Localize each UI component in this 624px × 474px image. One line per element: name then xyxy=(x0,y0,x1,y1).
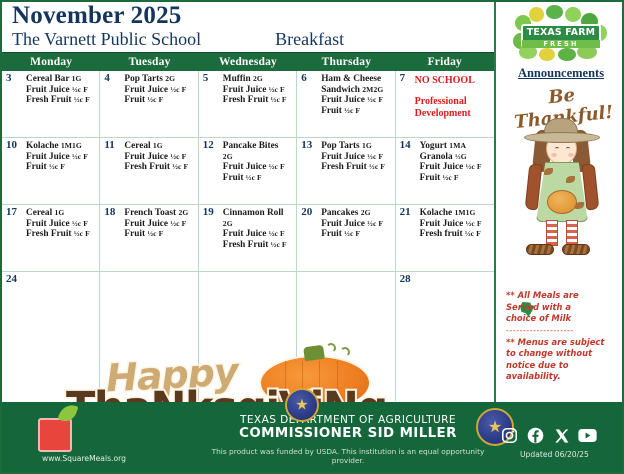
cheek-icon xyxy=(551,153,557,157)
menu-item-qty: ½c F xyxy=(466,219,482,228)
menu-item: Fruit Juice ½c F xyxy=(124,85,195,96)
menu-item: Fruit ½c F xyxy=(26,162,97,173)
menu-item-name: Pop Tarts xyxy=(124,74,163,84)
day-number: 10 xyxy=(6,139,17,151)
square-meals-url[interactable]: www.SquareMeals.org xyxy=(42,454,126,463)
subtitle-row: The Varnett Public School Breakfast xyxy=(12,29,484,50)
menu-item: Cereal Bar 1G xyxy=(26,74,97,85)
menu-item-qty: ½c F xyxy=(369,162,385,171)
menu-item: 2G xyxy=(223,219,294,230)
menu-item-name: Fruit Juice xyxy=(321,95,365,105)
menu-item-qty: ½c F xyxy=(269,162,285,171)
menu-item: Fruit ½c F xyxy=(124,229,195,240)
day-number: 14 xyxy=(400,139,411,151)
menu-item-name: Fruit xyxy=(321,229,342,239)
menu-item-name: Fresh Fruit xyxy=(26,229,72,239)
dress-pumpkin-icon xyxy=(547,190,577,214)
menu-item-name: Muffin xyxy=(223,74,251,84)
menu-item-qty: ½c F xyxy=(172,162,188,171)
menu-item-name: Fruit Juice xyxy=(223,85,267,95)
menu-item-qty: ½G xyxy=(455,152,467,161)
day-number: 28 xyxy=(400,273,411,285)
meal-type-label: Breakfast xyxy=(275,29,344,50)
note-line: ** All Meals are xyxy=(506,290,618,302)
menu-item-name: Fruit xyxy=(420,173,441,183)
week-row: 3Cereal Bar 1GFruit Juice ½c FFresh Frui… xyxy=(2,71,494,138)
day-number: 17 xyxy=(6,206,17,218)
vegetable-icon xyxy=(546,5,563,19)
day-number: 20 xyxy=(301,206,312,218)
note-line: notice due to xyxy=(506,360,618,372)
vegetable-icon xyxy=(558,48,576,61)
menu-item: Fruit Juice ½c F xyxy=(223,229,294,240)
week-row: 10Kolache 1M1GFruit Juice ½c FFruit ½c F… xyxy=(2,138,494,205)
note-line: choice of Milk xyxy=(506,313,618,325)
cheek-icon xyxy=(568,153,574,157)
menu-item: Granola ½G xyxy=(420,152,492,163)
menu-item-list: Cereal 1GFruit Juice ½c FFresh Fruit ½c … xyxy=(124,141,195,173)
shoe-icon xyxy=(562,244,590,255)
menu-item-list: Kolache 1M1GFruit Juice ½c FFresh fruit … xyxy=(420,208,492,240)
page-title: November 2025 xyxy=(12,3,484,29)
x-icon[interactable] xyxy=(552,426,571,445)
menu-item: Pop Tarts 2G xyxy=(124,74,195,85)
menu-item: Fruit Juice ½c F xyxy=(420,219,492,230)
note-line: availability. xyxy=(506,371,618,383)
menu-item: 2G xyxy=(223,152,294,163)
no-school-line: Professional xyxy=(415,96,492,108)
day-number: 24 xyxy=(6,273,17,285)
menu-item-name: Yogurt xyxy=(420,141,447,151)
menu-item: Fruit Juice ½c F xyxy=(321,95,392,106)
menu-item-name: Fresh fruit xyxy=(420,229,463,239)
menu-item-list: Pancake Bites 2GFruit Juice ½c FFruit ½c… xyxy=(223,141,294,183)
menu-item-qty: ½c F xyxy=(72,152,88,161)
menu-item-list: Kolache 1M1GFruit Juice ½c FFruit ½c F xyxy=(26,141,97,173)
weekday-tuesday: Tuesday xyxy=(100,53,198,72)
menu-item-name: Fruit Juice xyxy=(124,85,168,95)
updated-date: Updated 06/20/25 xyxy=(520,450,589,459)
day-number: 21 xyxy=(400,206,411,218)
menu-item-name: Fruit Juice xyxy=(223,229,267,239)
day-cell: 18French Toast 2GFruit Juice ½c FFruit ½… xyxy=(100,205,198,271)
menu-item: Yogurt 1MA xyxy=(420,141,492,152)
texas-farm-fresh-banner: TEXAS FARM FRESH xyxy=(521,24,601,48)
menu-item-name: Fruit xyxy=(124,95,145,105)
menu-item-qty: ½c F xyxy=(72,219,88,228)
menu-item-qty: ½c F xyxy=(147,95,163,104)
menu-item: Cereal 1G xyxy=(124,141,195,152)
no-school-line: NO SCHOOL xyxy=(415,75,492,87)
week-row: 17Cereal 1GFruit Juice ½c FFresh Fruit ½… xyxy=(2,205,494,272)
straw-hat-brim-icon xyxy=(524,132,600,143)
menu-item-name: Fruit Juice xyxy=(321,152,365,162)
square-meals-apple-icon xyxy=(38,418,72,452)
calendar-weeks: 3Cereal Bar 1GFruit Juice ½c FFresh Frui… xyxy=(2,71,494,402)
no-school-line: Development xyxy=(415,108,492,120)
menu-item: Fresh Fruit ½c F xyxy=(223,95,294,106)
menu-item: Fresh Fruit ½c F xyxy=(26,95,97,106)
menu-item: Pancakes 2G xyxy=(321,208,392,219)
vegetable-icon xyxy=(529,7,544,22)
menu-item-qty: ½c F xyxy=(74,229,90,238)
day-cell xyxy=(100,272,198,401)
day-number: 11 xyxy=(104,139,114,151)
menu-item: Fruit ½c F xyxy=(420,173,492,184)
day-cell xyxy=(199,272,297,401)
facebook-icon[interactable] xyxy=(526,426,545,445)
day-cell: 19Cinnamon Roll 2GFruit Juice ½c FFresh … xyxy=(199,205,297,271)
day-cell: 12Pancake Bites 2GFruit Juice ½c FFruit … xyxy=(199,138,297,204)
menu-item: French Toast 2G xyxy=(124,208,195,219)
menu-item: Cinnamon Roll xyxy=(223,208,294,219)
texas-farm-fresh-logo: TEXAS FARM FRESH xyxy=(513,7,609,63)
menu-item: Pop Tarts 1G xyxy=(321,141,392,152)
day-number: 18 xyxy=(104,206,115,218)
menu-item-list: Pancakes 2GFruit Juice ½c FFruit ½c F xyxy=(321,208,392,240)
menu-item: Fruit Juice ½c F xyxy=(223,85,294,96)
day-cell: 14Yogurt 1MAGranola ½GFruit Juice ½c FFr… xyxy=(396,138,494,204)
menu-item: Fruit Juice ½c F xyxy=(26,219,97,230)
menu-item-name: Fruit xyxy=(124,229,145,239)
menu-item-qty: ½c F xyxy=(246,173,262,182)
weekday-wednesday: Wednesday xyxy=(199,53,297,72)
menu-item-name: Pancake Bites xyxy=(223,141,279,151)
menu-item-name: Fruit Juice xyxy=(420,219,464,229)
menu-item-qty: 2G xyxy=(361,208,371,217)
menu-item-qty: ½c F xyxy=(367,95,383,104)
menu-item-name: Ham & Cheese xyxy=(321,74,381,84)
menu-item-qty: ½c F xyxy=(344,106,360,115)
day-cell: 13Pop Tarts 1GFruit Juice ½c FFresh Frui… xyxy=(297,138,395,204)
menu-item-qty: ½c F xyxy=(170,219,186,228)
menu-item-qty: ½c F xyxy=(271,240,287,249)
menu-item-name: Fruit Juice xyxy=(26,219,70,229)
note-line: ** Menus are subject xyxy=(506,337,618,349)
note-separator: -------------------- xyxy=(506,326,618,336)
menu-item-list: Yogurt 1MAGranola ½GFruit Juice ½c FFrui… xyxy=(420,141,492,183)
menu-item-name: Fruit Juice xyxy=(420,162,464,172)
menu-item-qty: 1M1G xyxy=(61,141,82,150)
day-number: 19 xyxy=(203,206,214,218)
weekday-friday: Friday xyxy=(396,53,494,72)
menu-item-list: Muffin 2GFruit Juice ½c FFresh Fruit ½c … xyxy=(223,74,294,106)
scarecrow-girl-illustration xyxy=(520,106,604,272)
menu-item-qty: 2G xyxy=(223,152,233,161)
menu-item: Fresh fruit ½c F xyxy=(420,229,492,240)
eye-icon xyxy=(566,147,570,151)
menu-item-name: Fresh Fruit xyxy=(321,162,367,172)
announcements-title: Announcements xyxy=(502,66,620,81)
menu-item: Pancake Bites xyxy=(223,141,294,152)
day-cell: 10Kolache 1M1GFruit Juice ½c FFruit ½c F xyxy=(2,138,100,204)
menu-item: Sandwich 2M2G xyxy=(321,85,392,96)
no-school-notice: NO SCHOOLProfessionalDevelopment xyxy=(415,75,492,120)
menu-item-qty: ½c F xyxy=(74,95,90,104)
menu-item-qty: 1G xyxy=(72,74,82,83)
menu-item-qty: 2G xyxy=(253,74,263,83)
menu-item: Fruit Juice ½c F xyxy=(26,85,97,96)
day-number: 7 xyxy=(400,72,406,84)
day-number: 5 xyxy=(203,72,209,84)
menu-item: Fruit Juice ½c F xyxy=(420,162,492,173)
menu-item-list: Ham & CheeseSandwich 2M2GFruit Juice ½c … xyxy=(321,74,392,116)
day-cell: 5Muffin 2GFruit Juice ½c FFresh Fruit ½c… xyxy=(199,71,297,137)
youtube-icon[interactable] xyxy=(578,426,597,445)
menu-item-name: Sandwich xyxy=(321,85,360,95)
day-cell: 7NO SCHOOLProfessionalDevelopment xyxy=(396,71,494,137)
school-name: The Varnett Public School xyxy=(12,29,201,50)
menu-item-name: Fruit Juice xyxy=(26,85,70,95)
menu-item: Fruit ½c F xyxy=(223,173,294,184)
day-number: 12 xyxy=(203,139,214,151)
menu-item-qty: ½c F xyxy=(344,229,360,238)
menu-item-name: Fruit xyxy=(26,162,47,172)
menu-item-name: Fresh Fruit xyxy=(223,240,269,250)
menu-item-qty: ½c F xyxy=(170,152,186,161)
menu-item-name: Cinnamon Roll xyxy=(223,208,284,218)
menu-item-list: French Toast 2GFruit Juice ½c FFruit ½c … xyxy=(124,208,195,240)
social-links xyxy=(500,426,597,445)
day-cell: 21Kolache 1M1GFruit Juice ½c FFresh frui… xyxy=(396,205,494,271)
menu-item-name: Pancakes xyxy=(321,208,358,218)
star-glyph: ★ xyxy=(295,396,308,415)
logo-name-text: TEXAS FARM xyxy=(527,27,595,38)
day-cell: 17Cereal 1GFruit Juice ½c FFresh Fruit ½… xyxy=(2,205,100,271)
weekday-header-row: Monday Tuesday Wednesday Thursday Friday xyxy=(2,52,494,71)
menu-item: Fruit Juice ½c F xyxy=(124,152,195,163)
menu-item-qty: 1G xyxy=(362,141,372,150)
menu-item-qty: 2G xyxy=(165,74,175,83)
menu-item-qty: ½c F xyxy=(367,152,383,161)
leg-icon xyxy=(566,220,578,246)
menu-item-name: Cereal xyxy=(124,141,150,151)
menu-item-qty: 1G xyxy=(153,141,163,150)
menu-item: Fruit Juice ½c F xyxy=(124,219,195,230)
day-cell: 4Pop Tarts 2GFruit Juice ½c FFruit ½c F xyxy=(100,71,198,137)
shoe-icon xyxy=(526,244,554,255)
announcements-sidebar: TEXAS FARM FRESH Announcements Be Thankf… xyxy=(498,2,624,402)
menu-item-qty: ½c F xyxy=(170,85,186,94)
weekday-thursday: Thursday xyxy=(297,53,395,72)
menu-item: Cereal 1G xyxy=(26,208,97,219)
instagram-icon[interactable] xyxy=(500,426,519,445)
sidebar-notes: ** All Meals are Served with a choice of… xyxy=(506,290,618,383)
day-number: 13 xyxy=(301,139,312,151)
menu-item: Fruit ½c F xyxy=(321,229,392,240)
menu-item-qty: ½c F xyxy=(269,85,285,94)
menu-item: Fruit Juice ½c F xyxy=(321,152,392,163)
texas-agriculture-seal-icon: ★ xyxy=(285,388,319,422)
menu-item-qty: ½c F xyxy=(443,173,459,182)
menu-item: Fruit Juice ½c F xyxy=(321,219,392,230)
menu-item-name: Cereal Bar xyxy=(26,74,69,84)
day-number: 3 xyxy=(6,72,12,84)
menu-item-qty: ½c F xyxy=(72,85,88,94)
weekday-monday: Monday xyxy=(2,53,100,72)
menu-item-qty: 2M2G xyxy=(362,85,383,94)
menu-item-name: Fruit Juice xyxy=(26,152,70,162)
menu-item-name: French Toast xyxy=(124,208,176,218)
menu-item-name: Fruit xyxy=(223,173,244,183)
menu-item-name: Pop Tarts xyxy=(321,141,360,151)
menu-item: Muffin 2G xyxy=(223,74,294,85)
menu-item-qty: 2G xyxy=(178,208,188,217)
leg-icon xyxy=(546,220,558,246)
day-cell: 24 xyxy=(2,272,100,401)
menu-item-name: Fresh Fruit xyxy=(223,95,269,105)
menu-item-qty: ½c F xyxy=(147,229,163,238)
logo-sub-text: FRESH xyxy=(522,40,600,48)
menu-item-name: Cereal xyxy=(26,208,52,218)
vegetable-icon xyxy=(565,7,581,22)
menu-item: Ham & Cheese xyxy=(321,74,392,85)
week-row: 2428 xyxy=(2,272,494,401)
menu-item-qty: ½c F xyxy=(269,229,285,238)
menu-item-qty: ½c F xyxy=(271,95,287,104)
menu-item: Fresh Fruit ½c F xyxy=(124,162,195,173)
menu-item: Fruit ½c F xyxy=(124,95,195,106)
menu-item-name: Kolache xyxy=(420,208,453,218)
agency-block: ★ TEXAS DEPARTMENT OF AGRICULTURE COMMIS… xyxy=(198,414,498,465)
menu-item: Kolache 1M1G xyxy=(26,141,97,152)
menu-item-list: Pop Tarts 2GFruit Juice ½c FFruit ½c F xyxy=(124,74,195,106)
day-number: 6 xyxy=(301,72,307,84)
calendar-title-bar: November 2025 The Varnett Public School … xyxy=(2,2,494,52)
menu-item-list: Pop Tarts 1GFruit Juice ½c FFresh Fruit … xyxy=(321,141,392,173)
menu-item: Fruit Juice ½c F xyxy=(26,152,97,163)
vegetable-icon xyxy=(539,48,555,61)
day-cell: 28 xyxy=(396,272,494,401)
note-line: Served with a xyxy=(506,302,618,314)
menu-item: Fruit ½c F xyxy=(321,106,392,117)
menu-item-name: Fruit Juice xyxy=(321,219,365,229)
note-line: to change without xyxy=(506,348,618,360)
menu-item-qty: 1G xyxy=(55,208,65,217)
menu-item-name: Kolache xyxy=(26,141,59,151)
menu-item-qty: ½c F xyxy=(466,162,482,171)
menu-item-list: Cereal 1GFruit Juice ½c FFresh Fruit ½c … xyxy=(26,208,97,240)
menu-item: Kolache 1M1G xyxy=(420,208,492,219)
menu-item-name: Fruit Juice xyxy=(124,219,168,229)
calendar-area: November 2025 The Varnett Public School … xyxy=(2,2,496,402)
day-number: 4 xyxy=(104,72,110,84)
menu-item-qty: ½c F xyxy=(49,162,65,171)
menu-item: Fresh Fruit ½c F xyxy=(26,229,97,240)
menu-item-qty: ½c F xyxy=(465,229,481,238)
day-cell: 3Cereal Bar 1GFruit Juice ½c FFresh Frui… xyxy=(2,71,100,137)
menu-item-name: Fruit xyxy=(321,106,342,116)
day-cell xyxy=(297,272,395,401)
menu-item-name: Fruit Juice xyxy=(223,162,267,172)
menu-item: Fresh Fruit ½c F xyxy=(223,240,294,251)
menu-item-name: Granola xyxy=(420,152,453,162)
menu-item-qty: 1M1G xyxy=(454,208,475,217)
menu-item: Fresh Fruit ½c F xyxy=(321,162,392,173)
agency-name-line2: COMMISSIONER SID MILLER xyxy=(198,426,498,442)
menu-item-list: Cereal Bar 1GFruit Juice ½c FFresh Fruit… xyxy=(26,74,97,106)
menu-item-qty: 1MA xyxy=(449,141,466,150)
menu-item-name: Fresh Fruit xyxy=(26,95,72,105)
menu-calendar-page: November 2025 The Varnett Public School … xyxy=(0,0,624,474)
menu-item-qty: ½c F xyxy=(367,219,383,228)
spacer xyxy=(415,87,492,96)
menu-item-list: Cinnamon Roll 2GFruit Juice ½c FFresh Fr… xyxy=(223,208,294,250)
day-cell: 6Ham & CheeseSandwich 2M2GFruit Juice ½c… xyxy=(297,71,395,137)
menu-item: Fruit Juice ½c F xyxy=(223,162,294,173)
menu-item-qty: 2G xyxy=(223,219,233,228)
eye-icon xyxy=(555,147,559,151)
menu-item-name: Fresh Fruit xyxy=(124,162,170,172)
day-cell: 20Pancakes 2GFruit Juice ½c FFruit ½c F xyxy=(297,205,395,271)
menu-item-name: Fruit Juice xyxy=(124,152,168,162)
usda-disclaimer: This product was funded by USDA. This in… xyxy=(198,447,498,465)
agency-name-line1: TEXAS DEPARTMENT OF AGRICULTURE xyxy=(198,414,498,426)
day-cell: 11Cereal 1GFruit Juice ½c FFresh Fruit ½… xyxy=(100,138,198,204)
